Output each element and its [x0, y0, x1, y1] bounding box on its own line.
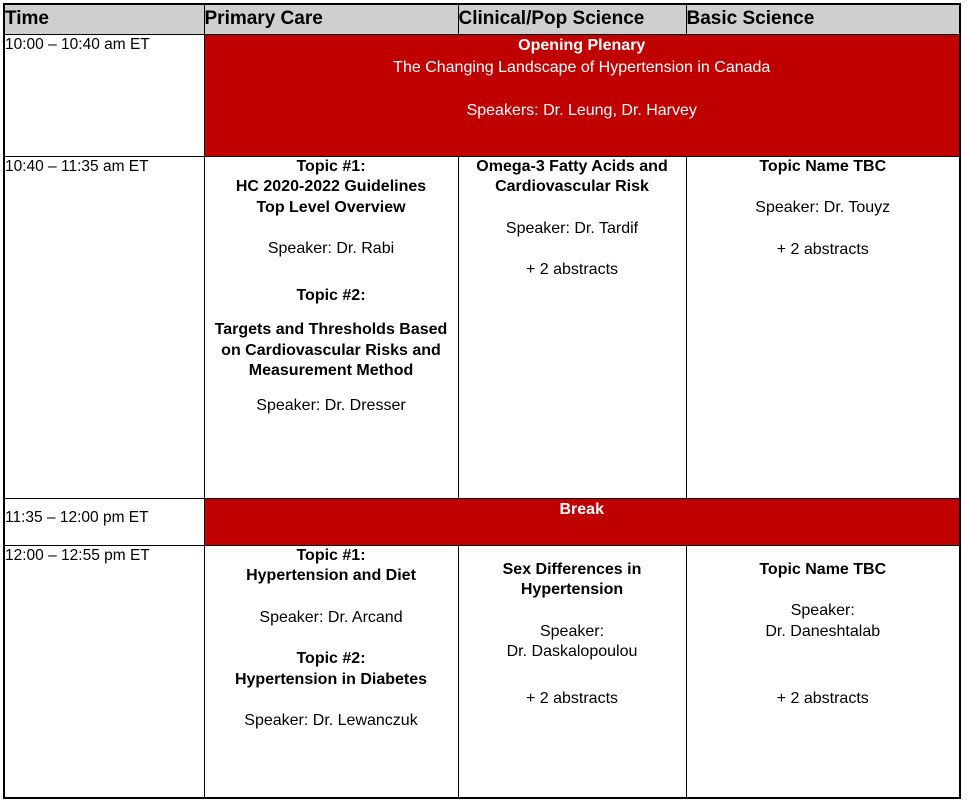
- spacer: [459, 601, 686, 622]
- spacer: [205, 306, 458, 320]
- spacer: [459, 198, 686, 219]
- bs1-speaker: Speaker: Dr. Touyz: [687, 198, 960, 219]
- session-two-primary-care: Topic #1: Hypertension and Diet Speaker:…: [204, 545, 458, 798]
- spacer: [687, 580, 960, 601]
- opening-plenary-banner: Opening Plenary The Changing Landscape o…: [204, 34, 960, 156]
- opening-plenary-subtitle: The Changing Landscape of Hypertension i…: [205, 57, 960, 79]
- agenda-container: Time Primary Care Clinical/Pop Science B…: [3, 3, 959, 799]
- spacer: [205, 218, 458, 239]
- table-row-session-one: 10:40 – 11:35 am ET Topic #1: HC 2020-20…: [4, 156, 960, 498]
- pc1-topic2-label: Topic #2:: [205, 286, 458, 307]
- pc1-topic2-line2: on Cardiovascular Risks and: [205, 341, 458, 362]
- opening-plenary-speakers: Speakers: Dr. Leung, Dr. Harvey: [205, 100, 960, 122]
- pc2-topic2-speaker: Speaker: Dr. Lewanczuk: [205, 711, 458, 732]
- pc1-topic1-line2: Top Level Overview: [205, 198, 458, 219]
- bs2-speaker-label: Speaker:: [687, 601, 960, 622]
- spacer: [205, 690, 458, 711]
- cps2-abstracts: + 2 abstracts: [459, 689, 686, 710]
- spacer: [205, 382, 458, 396]
- break-label: Break: [205, 499, 960, 521]
- pc2-topic1-label: Topic #1:: [205, 546, 458, 567]
- session-one-basic-science: Topic Name TBC Speaker: Dr. Touyz + 2 ab…: [686, 156, 960, 498]
- table-row-session-two: 12:00 – 12:55 pm ET Topic #1: Hypertensi…: [4, 545, 960, 798]
- break-banner: Break: [204, 498, 960, 545]
- column-header-primary-care: Primary Care: [204, 4, 458, 34]
- table-row-break: 11:35 – 12:00 pm ET Break: [4, 498, 960, 545]
- pc1-topic1-line1: HC 2020-2022 Guidelines: [205, 177, 458, 198]
- spacer: [687, 219, 960, 240]
- opening-plenary-title: Opening Plenary: [205, 35, 960, 57]
- spacer: [205, 628, 458, 649]
- session-one-clinical-pop-science: Omega-3 Fatty Acids and Cardiovascular R…: [458, 156, 686, 498]
- cps1-title-line2: Cardiovascular Risk: [459, 177, 686, 198]
- conference-agenda-table: Time Primary Care Clinical/Pop Science B…: [3, 3, 961, 799]
- bs2-speaker-name: Dr. Daneshtalab: [687, 622, 960, 643]
- spacer: [687, 642, 960, 668]
- time-slot-break: 11:35 – 12:00 pm ET: [4, 498, 204, 545]
- spacer: [205, 260, 458, 286]
- session-two-basic-science: Topic Name TBC Speaker: Dr. Daneshtalab …: [686, 545, 960, 798]
- spacer: [205, 79, 960, 100]
- spacer: [205, 587, 458, 608]
- cps1-abstracts: + 2 abstracts: [459, 260, 686, 281]
- time-slot-session-two: 12:00 – 12:55 pm ET: [4, 545, 204, 798]
- session-one-primary-care: Topic #1: HC 2020-2022 Guidelines Top Le…: [204, 156, 458, 498]
- pc1-topic1-label: Topic #1:: [205, 157, 458, 178]
- pc2-topic1-speaker: Speaker: Dr. Arcand: [205, 608, 458, 629]
- pc2-topic1-line1: Hypertension and Diet: [205, 566, 458, 587]
- time-slot-opening-plenary: 10:00 – 10:40 am ET: [4, 34, 204, 156]
- pc1-topic2-speaker: Speaker: Dr. Dresser: [205, 396, 458, 417]
- bs2-abstracts: + 2 abstracts: [687, 689, 960, 710]
- session-two-clinical-pop-science: Sex Differences in Hypertension Speaker:…: [458, 545, 686, 798]
- spacer: [687, 668, 960, 689]
- cps2-speaker-name: Dr. Daskalopoulou: [459, 642, 686, 663]
- spacer: [459, 546, 686, 560]
- pc1-topic2-line1: Targets and Thresholds Based: [205, 320, 458, 341]
- spacer: [459, 663, 686, 689]
- cps2-title-line2: Hypertension: [459, 580, 686, 601]
- cps1-title-line1: Omega-3 Fatty Acids and: [459, 157, 686, 178]
- pc2-topic2-label: Topic #2:: [205, 649, 458, 670]
- table-row-opening-plenary: 10:00 – 10:40 am ET Opening Plenary The …: [4, 34, 960, 156]
- table-header-row: Time Primary Care Clinical/Pop Science B…: [4, 4, 960, 34]
- pc2-topic2-line1: Hypertension in Diabetes: [205, 670, 458, 691]
- spacer: [687, 177, 960, 198]
- pc1-topic1-speaker: Speaker: Dr. Rabi: [205, 239, 458, 260]
- pc1-topic2-line3: Measurement Method: [205, 361, 458, 382]
- column-header-basic-science: Basic Science: [686, 4, 960, 34]
- bs1-title: Topic Name TBC: [687, 157, 960, 178]
- time-slot-session-one: 10:40 – 11:35 am ET: [4, 156, 204, 498]
- cps1-speaker: Speaker: Dr. Tardif: [459, 219, 686, 240]
- cps2-title-line1: Sex Differences in: [459, 560, 686, 581]
- spacer: [687, 546, 960, 560]
- bs2-title: Topic Name TBC: [687, 560, 960, 581]
- spacer: [459, 239, 686, 260]
- column-header-time: Time: [4, 4, 204, 34]
- cps2-speaker-label: Speaker:: [459, 622, 686, 643]
- column-header-clinical-pop-science: Clinical/Pop Science: [458, 4, 686, 34]
- bs1-abstracts: + 2 abstracts: [687, 240, 960, 261]
